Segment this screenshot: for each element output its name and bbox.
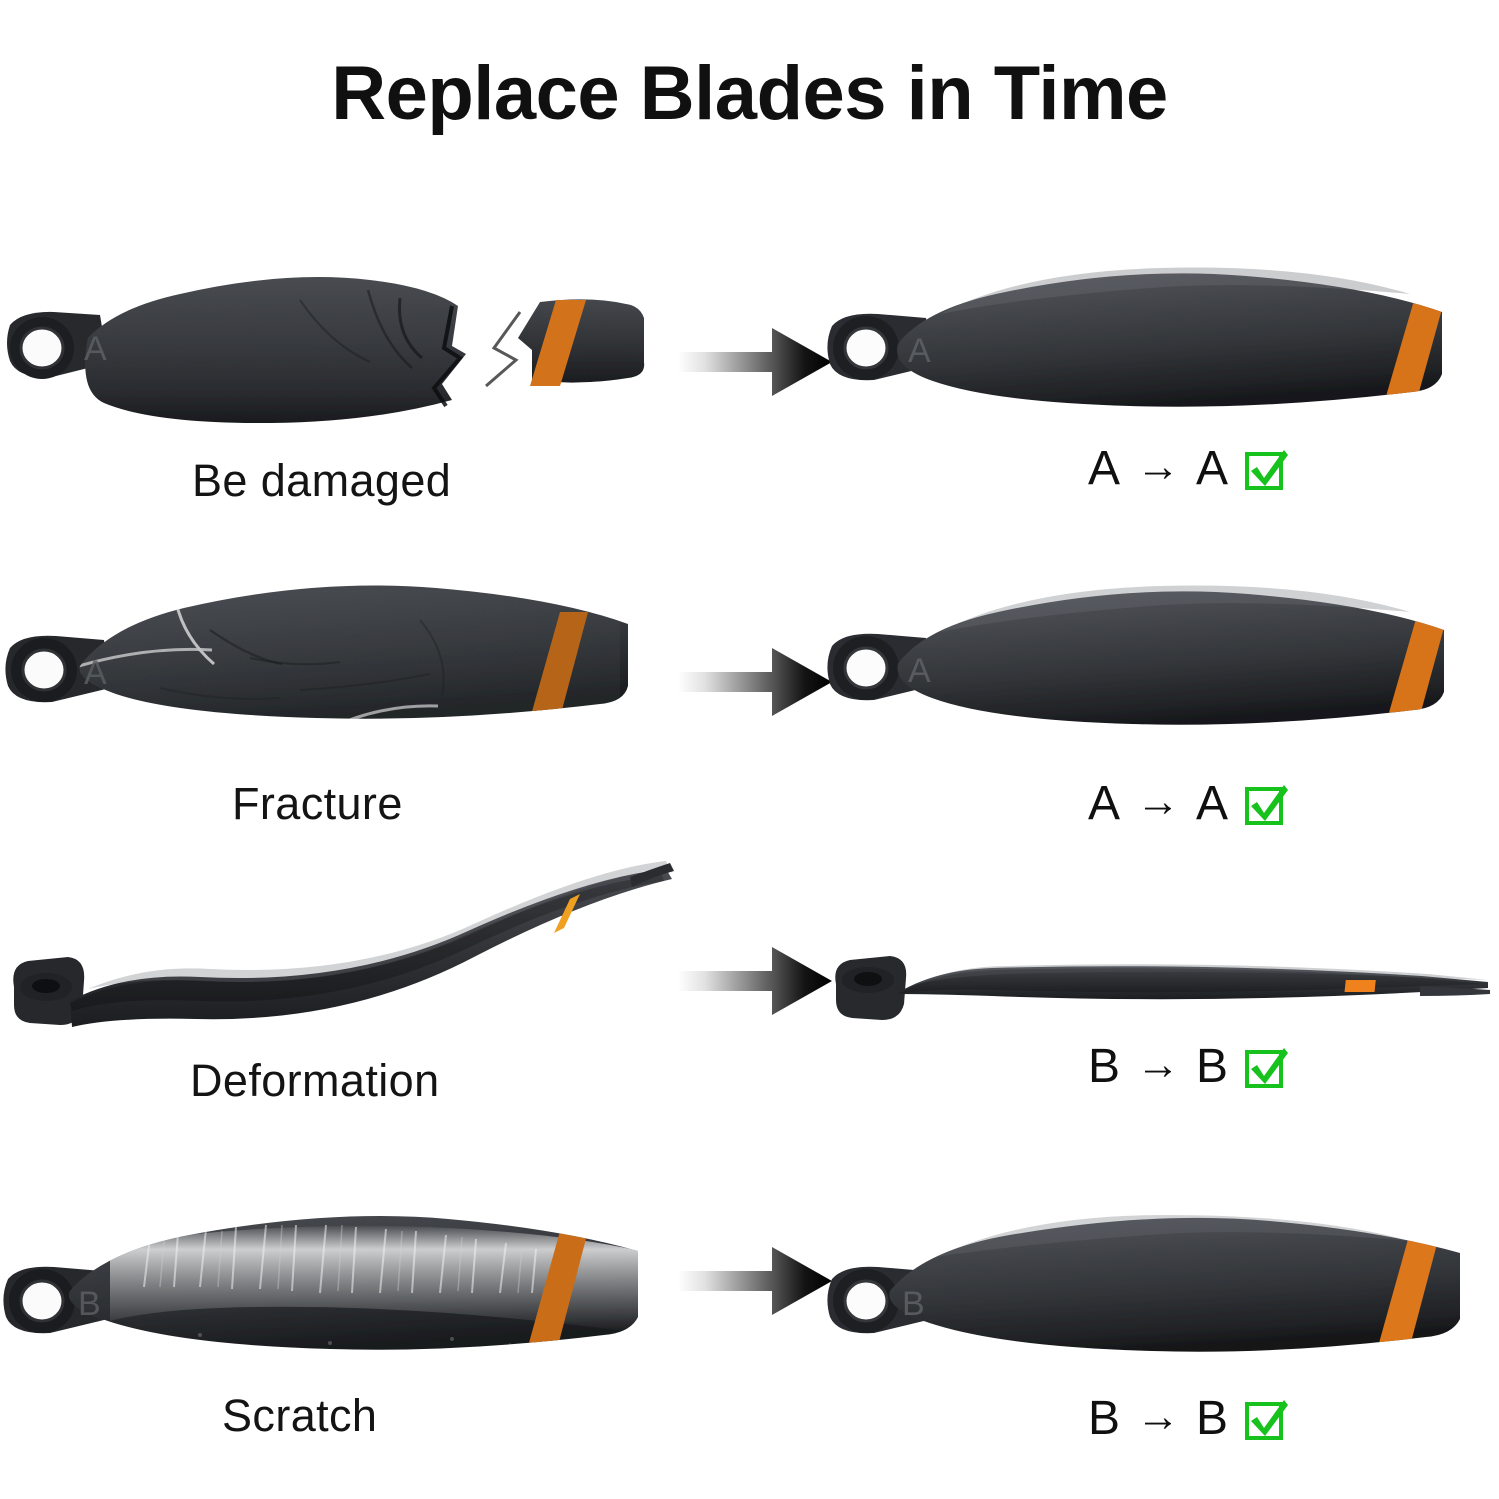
result-from-label: B xyxy=(1088,1043,1120,1091)
good-blade-image-a: A xyxy=(820,240,1499,440)
svg-text:A: A xyxy=(84,654,107,692)
right-arrow-gradient-icon xyxy=(676,937,836,1025)
fractured-blade-panel: A Fracture xyxy=(0,560,680,860)
good-blade-panel-b-edge: B → B xyxy=(820,855,1499,1135)
blade-marking-a: A xyxy=(908,332,931,370)
damaged-blade-image: A xyxy=(0,240,680,440)
caption-deformation: Deformation xyxy=(190,1055,440,1107)
checked-box-icon xyxy=(1244,1397,1288,1441)
right-arrow-gradient-icon xyxy=(676,1237,836,1325)
caption-scratch: Scratch xyxy=(222,1390,377,1442)
result-b-to-b: B → B xyxy=(1088,1043,1288,1091)
deformed-blade-panel: Deformation xyxy=(0,855,680,1135)
checked-box-icon xyxy=(1244,782,1288,826)
page-title: Replace Blades in Time xyxy=(0,52,1499,136)
good-blade-panel-b: B B → B xyxy=(820,1195,1499,1495)
row-be-damaged: A Be damaged xyxy=(0,240,1499,540)
result-to-label: B xyxy=(1196,1395,1228,1443)
result-a-to-a: A → A xyxy=(1088,780,1288,828)
result-to-label: A xyxy=(1196,445,1228,493)
good-blade-panel-a1: A A → A xyxy=(820,240,1499,540)
result-from-label: B xyxy=(1088,1395,1120,1443)
row-fracture: A Fracture xyxy=(0,560,1499,860)
checked-box-icon xyxy=(1244,1045,1288,1089)
row-scratch: B Scratch xyxy=(0,1195,1499,1495)
result-arrow-glyph: → xyxy=(1136,780,1180,824)
good-blade-image-a: A xyxy=(820,560,1499,760)
result-from-label: A xyxy=(1088,445,1120,493)
blade-marking-b: B xyxy=(902,1285,925,1323)
right-arrow-gradient-icon xyxy=(676,638,836,726)
result-arrow-glyph: → xyxy=(1136,445,1180,489)
result-b-to-b: B → B xyxy=(1088,1395,1288,1443)
caption-be-damaged: Be damaged xyxy=(192,455,451,507)
row-deformation: Deformation xyxy=(0,855,1499,1135)
scratched-blade-panel: B Scratch xyxy=(0,1195,680,1495)
deformed-blade-image xyxy=(0,855,680,1045)
result-to-label: B xyxy=(1196,1043,1228,1091)
good-blade-image-b: B xyxy=(820,1195,1499,1395)
blade-marking-b: B xyxy=(78,1285,101,1323)
result-from-label: A xyxy=(1088,780,1120,828)
scratched-blade-image: B xyxy=(0,1195,680,1395)
svg-text:A: A xyxy=(84,330,107,368)
damaged-blade-panel: A Be damaged xyxy=(0,240,680,540)
result-to-label: A xyxy=(1196,780,1228,828)
result-arrow-glyph: → xyxy=(1136,1043,1180,1087)
caption-fracture: Fracture xyxy=(232,778,403,830)
checked-box-icon xyxy=(1244,447,1288,491)
fractured-blade-image: A xyxy=(0,560,680,760)
result-a-to-a: A → A xyxy=(1088,445,1288,493)
right-arrow-gradient-icon xyxy=(676,318,836,406)
good-blade-panel-a2: A A → A xyxy=(820,560,1499,860)
blade-marking-a: A xyxy=(908,652,931,690)
result-arrow-glyph: → xyxy=(1136,1395,1180,1439)
